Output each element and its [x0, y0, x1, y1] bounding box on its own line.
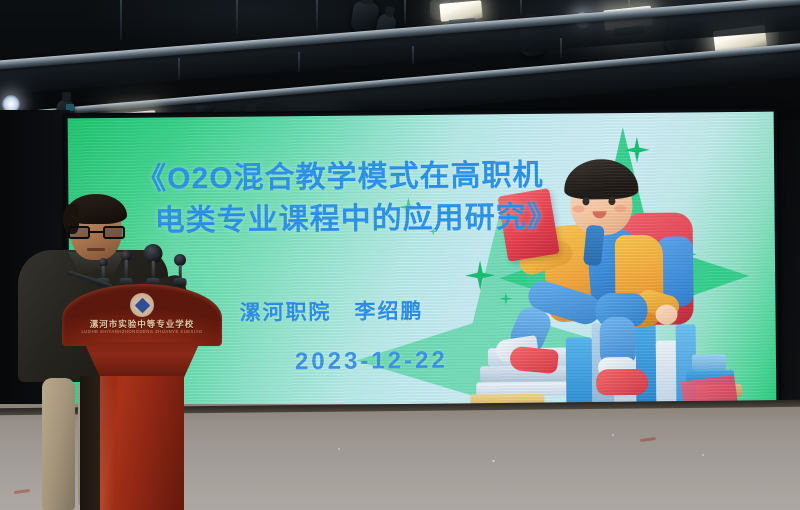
- hanging-rod: [178, 58, 180, 80]
- microphone: [172, 254, 188, 286]
- floor-speck: [492, 460, 495, 462]
- hanging-rod: [236, 0, 238, 34]
- hanging-rod: [560, 38, 562, 58]
- slide-title-line-1: 《O2O混合教学模式在高职机: [136, 150, 544, 198]
- presenter-mouth: [87, 248, 105, 251]
- truss-clamp: [196, 106, 214, 112]
- hanging-rod: [120, 0, 122, 40]
- floor-mark: [640, 437, 656, 442]
- led-panel-light-icon: [439, 0, 482, 22]
- floor-speck: [338, 448, 340, 450]
- podium-neck: [84, 342, 200, 378]
- floor-speck: [702, 454, 704, 456]
- hanging-rod: [412, 46, 414, 64]
- podium-school-name-en: LUOHE SHIYANHZHONGDENG ZHUANYE XUEXIAO: [62, 329, 222, 334]
- hanging-rod: [520, 0, 522, 16]
- hanging-rod: [404, 0, 406, 24]
- podium-top-surface: 漯河市实验中等专业学校 LUOHE SHIYANHZHONGDENG ZHUAN…: [62, 284, 222, 346]
- hanging-rod: [298, 52, 300, 72]
- podium: 漯河市实验中等专业学校 LUOHE SHIYANHZHONGDENG ZHUAN…: [62, 284, 222, 510]
- glasses-icon: [68, 226, 125, 239]
- podium-column: [100, 376, 184, 510]
- slide-title-line-2: 电类专业课程中的应用研究》: [154, 192, 557, 240]
- auditorium-stage-photo: 《O2O混合教学模式在高职机 电类专业课程中的应用研究》 漯河职院 李绍鹏 20…: [0, 0, 800, 510]
- floor-speck: [612, 434, 614, 436]
- podium-side-shadow: [80, 376, 102, 510]
- slide-presenter: 漯河职院 李绍鹏: [239, 295, 423, 327]
- microphone: [142, 244, 164, 286]
- hanging-rod: [316, 0, 318, 30]
- slide-date: 2023-12-22: [295, 347, 448, 376]
- microphone: [118, 250, 134, 286]
- school-emblem: [130, 293, 154, 317]
